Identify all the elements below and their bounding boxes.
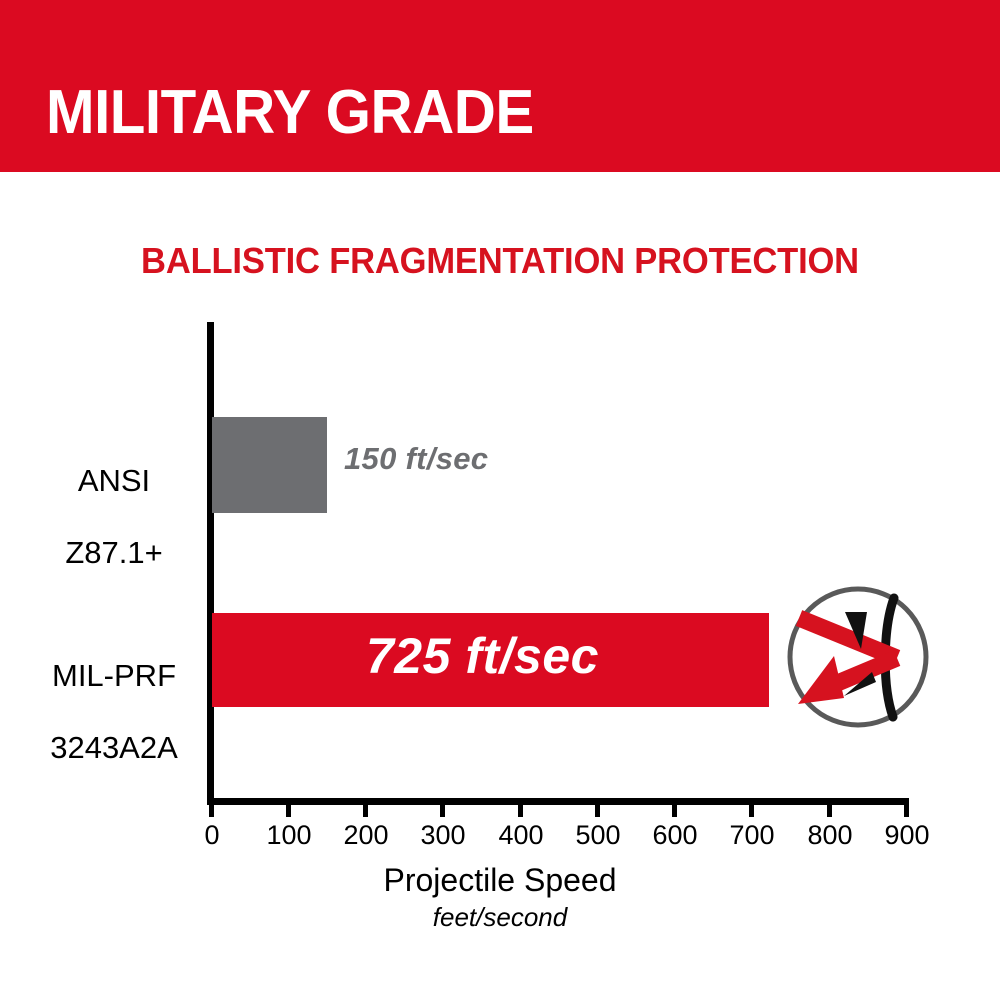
x-tick-600	[672, 805, 677, 817]
x-tick-label-300: 300	[403, 820, 483, 851]
category-label-mil-prf: MIL-PRF 3243A2A	[30, 622, 198, 766]
x-tick-label-200: 200	[326, 820, 406, 851]
y-axis-line	[207, 322, 214, 805]
category-label-ansi-line-2: Z87.1+	[65, 535, 162, 570]
x-tick-500	[595, 805, 600, 817]
x-tick-label-100: 100	[249, 820, 329, 851]
x-tick-label-0: 0	[172, 820, 252, 851]
category-label-ansi: ANSI Z87.1+	[30, 427, 198, 571]
bar-ansi-z87	[212, 417, 327, 513]
x-tick-label-900: 900	[867, 820, 947, 851]
x-axis-line	[207, 798, 909, 805]
bar-value-label-ansi: 150 ft/sec	[344, 441, 488, 477]
x-tick-label-500: 500	[558, 820, 638, 851]
bar-value-label-mil-prf: 725 ft/sec	[366, 627, 599, 685]
infographic-page: MILITARY GRADE IMPACT PROTECTION BALLIST…	[0, 0, 1000, 1000]
category-label-mil-line-2: 3243A2A	[50, 730, 178, 765]
x-tick-700	[749, 805, 754, 817]
x-tick-label-800: 800	[790, 820, 870, 851]
x-tick-0	[209, 805, 214, 817]
x-tick-300	[440, 805, 445, 817]
x-tick-200	[363, 805, 368, 817]
category-label-mil-line-1: MIL-PRF	[52, 658, 176, 693]
x-tick-400	[518, 805, 523, 817]
category-label-ansi-line-1: ANSI	[78, 463, 150, 498]
bar-chart: 0 100 200 300 400 500 600 700 800 900 AN…	[0, 0, 1000, 1000]
x-axis-label-units: feet/second	[0, 902, 1000, 933]
x-tick-label-700: 700	[712, 820, 792, 851]
x-tick-900	[904, 805, 909, 817]
x-tick-label-600: 600	[635, 820, 715, 851]
x-tick-100	[286, 805, 291, 817]
impact-deflection-icon	[782, 586, 934, 728]
x-axis-label: Projectile Speed	[0, 862, 1000, 899]
x-tick-label-400: 400	[481, 820, 561, 851]
x-tick-800	[827, 805, 832, 817]
